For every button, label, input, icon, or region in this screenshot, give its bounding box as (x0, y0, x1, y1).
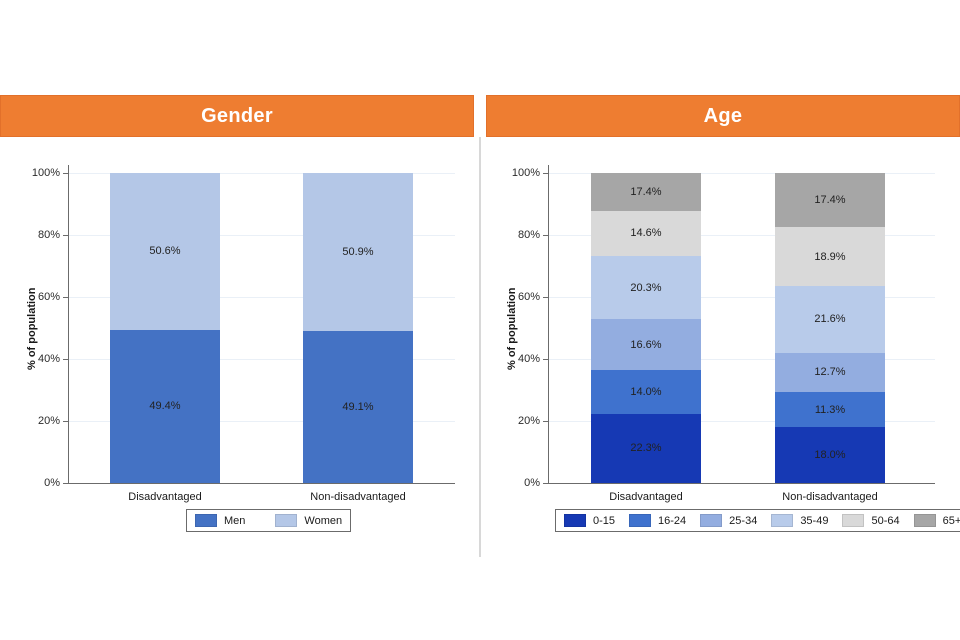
bar-segment[interactable]: 21.6% (775, 286, 885, 353)
y-axis-tick-label: 80% (490, 229, 540, 241)
legend-swatch (771, 514, 793, 527)
chart-panels: % of population0%20%40%60%80%100%49.4%50… (0, 137, 960, 557)
y-axis-line (68, 165, 69, 483)
legend-label: 50-64 (871, 515, 899, 527)
bar-segment-label: 50.6% (149, 245, 180, 257)
bar-segment[interactable]: 11.3% (775, 392, 885, 427)
bar-segment-label: 17.4% (814, 194, 845, 206)
y-axis-tick-label: 80% (10, 229, 60, 241)
bar-segment[interactable]: 17.4% (775, 173, 885, 227)
y-axis-tick (543, 483, 548, 484)
y-axis-tick (63, 235, 68, 236)
age-chart-panel: % of population0%20%40%60%80%100%22.3%14… (480, 137, 960, 557)
y-axis-tick (63, 297, 68, 298)
y-axis-tick-label: 60% (10, 291, 60, 303)
y-axis-tick-label: 40% (490, 353, 540, 365)
chart-page: Gender Age % of population0%20%40%60%80%… (0, 0, 960, 640)
x-axis-tick-label: Non-disadvantaged (740, 491, 920, 503)
y-axis-tick (63, 173, 68, 174)
y-axis-tick (543, 421, 548, 422)
bar-segment[interactable]: 49.4% (110, 330, 220, 483)
bar-segment[interactable]: 49.1% (303, 331, 413, 483)
age-header-wrap: Age (486, 95, 960, 137)
bar-segment-label: 20.3% (630, 282, 661, 294)
legend-item[interactable]: 35-49 (771, 514, 828, 527)
stacked-bar[interactable]: 18.0%11.3%12.7%21.6%18.9%17.4% (775, 173, 885, 483)
y-axis-tick-label: 0% (490, 477, 540, 489)
bar-segment-label: 50.9% (342, 246, 373, 258)
legend-item[interactable]: 0-15 (564, 514, 615, 527)
bar-segment[interactable]: 18.0% (775, 427, 885, 483)
y-axis-tick-label: 20% (490, 415, 540, 427)
x-axis-line (68, 483, 455, 484)
header-gap (474, 95, 486, 137)
y-axis-tick-label: 20% (10, 415, 60, 427)
gender-header-band: Gender (0, 95, 474, 137)
y-axis-line (548, 165, 549, 483)
legend-item[interactable]: 65+ (914, 514, 960, 527)
chart-legend: 0-1516-2425-3435-4950-6465+ (555, 509, 960, 532)
bar-segment-label: 18.0% (814, 449, 845, 461)
legend-swatch (700, 514, 722, 527)
x-axis-tick-label: Non-disadvantaged (268, 491, 448, 503)
stacked-bar[interactable]: 22.3%14.0%16.6%20.3%14.6%17.4% (591, 173, 701, 483)
bar-segment[interactable]: 18.9% (775, 227, 885, 286)
y-axis-tick-label: 100% (10, 167, 60, 179)
legend-item[interactable]: 16-24 (629, 514, 686, 527)
y-axis-tick (543, 235, 548, 236)
age-header-title: Age (704, 105, 743, 128)
bar-segment[interactable]: 20.3% (591, 256, 701, 319)
bar-segment-label: 11.3% (815, 404, 845, 416)
gender-header-wrap: Gender (0, 95, 474, 137)
gender-chart-panel: % of population0%20%40%60%80%100%49.4%50… (0, 137, 480, 557)
gender-header-title: Gender (201, 105, 273, 128)
bar-segment[interactable]: 22.3% (591, 414, 701, 483)
legend-swatch (842, 514, 864, 527)
y-axis-tick (63, 359, 68, 360)
legend-swatch (195, 514, 217, 527)
panel-headers: Gender Age (0, 95, 960, 137)
bar-segment-label: 21.6% (814, 313, 845, 325)
y-axis-tick-label: 0% (10, 477, 60, 489)
y-axis-tick (543, 173, 548, 174)
stacked-bar[interactable]: 49.1%50.9% (303, 173, 413, 483)
x-axis-tick-label: Disadvantaged (75, 491, 255, 503)
bar-segment-label: 22.3% (630, 442, 661, 454)
legend-item[interactable]: Men (195, 514, 245, 527)
legend-label: 0-15 (593, 515, 615, 527)
legend-swatch (275, 514, 297, 527)
legend-label: 35-49 (800, 515, 828, 527)
y-axis-tick (543, 359, 548, 360)
bar-segment-label: 16.6% (630, 339, 661, 351)
bar-segment-label: 49.1% (342, 401, 373, 413)
bar-segment-label: 14.0% (630, 386, 661, 398)
y-axis-tick (543, 297, 548, 298)
legend-item[interactable]: 25-34 (700, 514, 757, 527)
legend-label: Women (304, 515, 342, 527)
bar-segment[interactable]: 12.7% (775, 353, 885, 392)
bar-segment[interactable]: 16.6% (591, 319, 701, 370)
bar-segment[interactable]: 17.4% (591, 173, 701, 211)
legend-label: Men (224, 515, 245, 527)
bar-segment[interactable]: 50.6% (110, 173, 220, 330)
bar-segment[interactable]: 50.9% (303, 173, 413, 331)
legend-label: 25-34 (729, 515, 757, 527)
chart-legend: MenWomen (186, 509, 351, 532)
y-axis-tick (63, 421, 68, 422)
legend-label: 16-24 (658, 515, 686, 527)
bar-segment[interactable]: 14.6% (591, 211, 701, 256)
legend-item[interactable]: Women (275, 514, 342, 527)
stacked-bar[interactable]: 49.4%50.6% (110, 173, 220, 483)
bar-segment-label: 49.4% (149, 400, 180, 412)
y-axis-tick (63, 483, 68, 484)
y-axis-tick-label: 60% (490, 291, 540, 303)
x-axis-tick-label: Disadvantaged (556, 491, 736, 503)
y-axis-tick-label: 40% (10, 353, 60, 365)
legend-swatch (629, 514, 651, 527)
y-axis-tick-label: 100% (490, 167, 540, 179)
x-axis-line (548, 483, 935, 484)
bar-segment-label: 17.4% (630, 186, 661, 198)
bar-segment[interactable]: 14.0% (591, 370, 701, 413)
legend-swatch (914, 514, 936, 527)
age-header-band: Age (486, 95, 960, 137)
bar-segment-label: 12.7% (814, 366, 845, 378)
legend-label: 65+ (943, 515, 960, 527)
legend-swatch (564, 514, 586, 527)
legend-item[interactable]: 50-64 (842, 514, 899, 527)
bar-segment-label: 14.6% (630, 227, 661, 239)
bar-segment-label: 18.9% (814, 251, 845, 263)
